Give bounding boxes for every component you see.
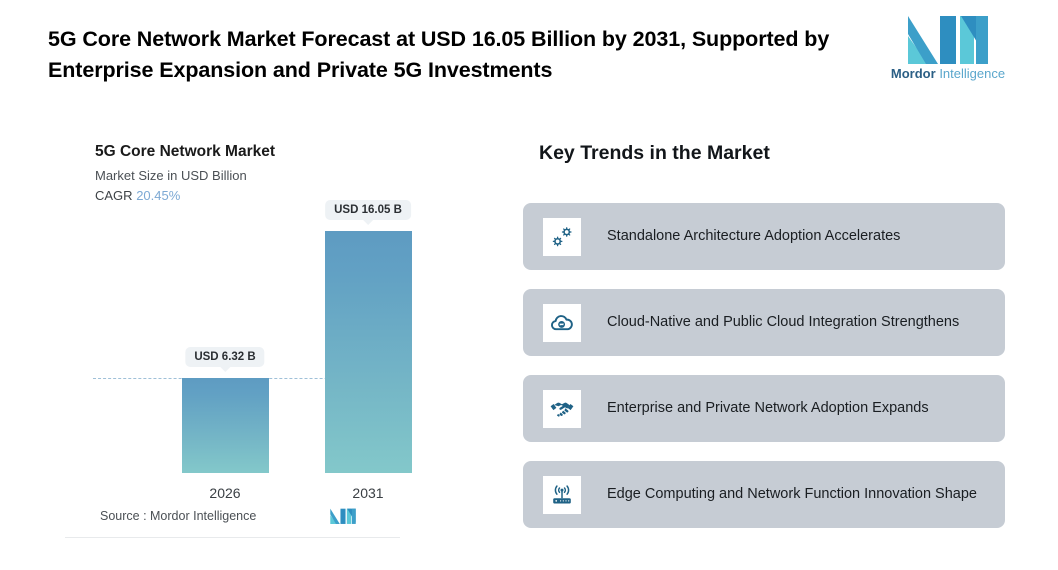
trend-icon-box <box>543 476 581 514</box>
trend-label: Standalone Architecture Adoption Acceler… <box>607 226 987 247</box>
source-text: Source : Mordor Intelligence <box>100 509 256 523</box>
trend-card-edge-computing[interactable]: Edge Computing and Network Function Inno… <box>523 461 1005 528</box>
trend-icon-box <box>543 390 581 428</box>
brand-name-light: Intelligence <box>939 66 1005 81</box>
bar-category-label: 2026 <box>209 485 240 501</box>
trend-card-standalone-architecture[interactable]: Standalone Architecture Adoption Acceler… <box>523 203 1005 270</box>
router-signal-icon <box>549 482 575 508</box>
bar[interactable] <box>182 378 269 473</box>
bar-group: USD 16.05 B 2031 <box>325 113 412 473</box>
chart-divider <box>65 537 400 538</box>
trend-label: Cloud-Native and Public Cloud Integratio… <box>607 312 987 333</box>
bar-value-label: USD 6.32 B <box>185 347 264 367</box>
trend-card-cloud-native[interactable]: Cloud-Native and Public Cloud Integratio… <box>523 289 1005 356</box>
bar[interactable] <box>325 231 412 473</box>
trends-panel: Key Trends in the Market Standalone Arch… <box>523 130 1005 540</box>
gears-icon <box>549 224 575 250</box>
page-title: 5G Core Network Market Forecast at USD 1… <box>48 24 838 86</box>
trend-icon-box <box>543 304 581 342</box>
cloud-sync-icon <box>549 310 575 336</box>
trend-icon-box <box>543 218 581 256</box>
trend-label: Edge Computing and Network Function Inno… <box>607 484 987 505</box>
brand-name-bold: Mordor <box>891 66 936 81</box>
trend-label: Enterprise and Private Network Adoption … <box>607 398 987 419</box>
chart-panel: 5G Core Network Market Market Size in US… <box>60 130 400 540</box>
mordor-m-logo-icon <box>904 14 992 64</box>
handshake-icon <box>549 396 575 422</box>
bar-category-label: 2031 <box>352 485 383 501</box>
chart-plot-area: USD 6.32 B 2026 USD 16.05 B 2031 <box>60 130 400 490</box>
mordor-m-logo-small-icon <box>329 507 357 525</box>
trend-card-enterprise-private-network[interactable]: Enterprise and Private Network Adoption … <box>523 375 1005 442</box>
bar-value-label: USD 16.05 B <box>325 200 411 220</box>
brand-wordmark: Mordor Intelligence <box>888 66 1008 81</box>
bar-group: USD 6.32 B 2026 <box>182 113 269 473</box>
trends-heading: Key Trends in the Market <box>539 142 770 165</box>
brand-logo: Mordor Intelligence <box>888 14 1008 88</box>
trend-list: Standalone Architecture Adoption Acceler… <box>523 203 1005 547</box>
chart-source-row: Source : Mordor Intelligence <box>100 505 400 533</box>
page-header: 5G Core Network Market Forecast at USD 1… <box>0 0 1058 108</box>
